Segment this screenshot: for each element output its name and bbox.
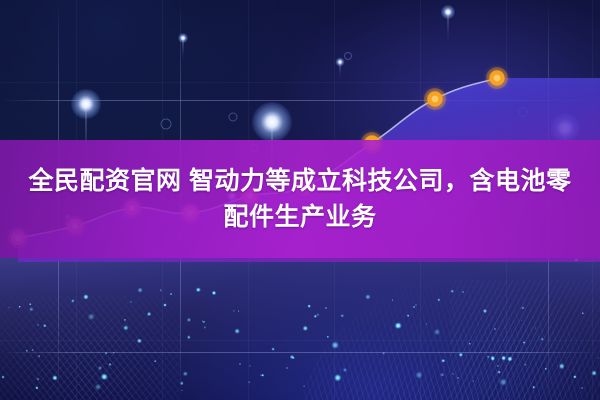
headline-line-2: 配件生产业务 [223,199,376,235]
data-point-core [494,75,501,82]
banner-image: 全民配资官网 智动力等成立科技公司，含电池零 配件生产业务 [0,0,600,400]
headline-line-1: 全民配资官网 智动力等成立科技公司，含电池零 [29,163,572,199]
headline-text-block: 全民配资官网 智动力等成立科技公司，含电池零 配件生产业务 [0,140,600,258]
data-point-core [432,96,439,103]
